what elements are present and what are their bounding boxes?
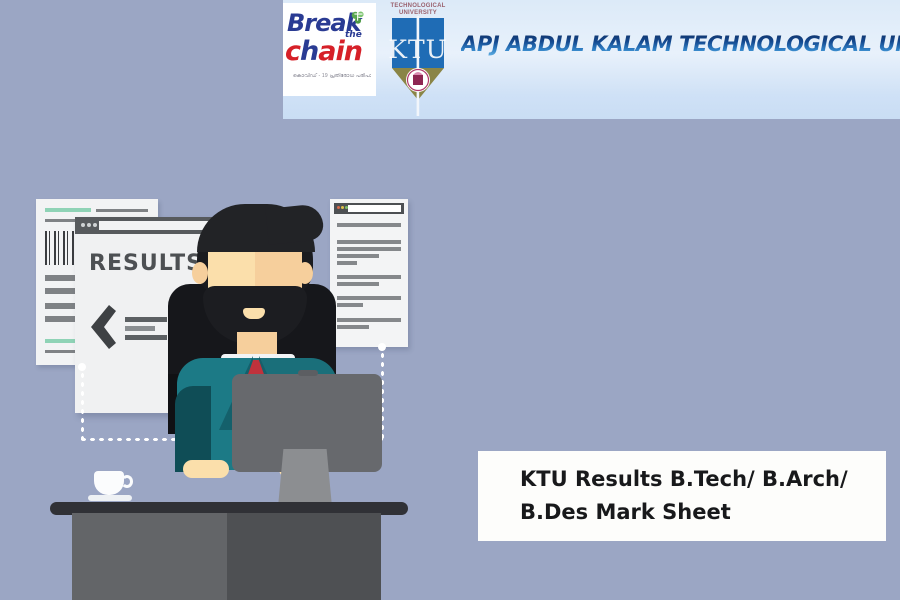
browser-window-document xyxy=(330,199,408,347)
desk-panel-left xyxy=(72,513,227,600)
window-dot-icon xyxy=(87,223,91,227)
doc-text-line xyxy=(337,325,369,329)
university-title: APJ ABDUL KALAM TECHNOLOGICAL UNIVERSITY xyxy=(461,32,900,56)
doc-text-line xyxy=(337,223,401,227)
doc-text-line xyxy=(337,282,379,286)
university-header-banner: Break the chain കൊവിഡ് - 19 പ്രതിരോധ പരി… xyxy=(283,0,900,119)
dotted-guide-cap xyxy=(378,343,386,351)
doc-text-line xyxy=(337,247,401,251)
doc-text-line xyxy=(337,240,401,244)
mouth xyxy=(243,308,265,319)
dotted-guide-vertical xyxy=(80,371,85,439)
cup-handle xyxy=(121,475,133,488)
doc-text-line xyxy=(337,303,363,307)
hand-left xyxy=(183,460,229,478)
ktu-shield-icon: KTU xyxy=(378,0,458,118)
virus-leaf-icon xyxy=(349,9,367,27)
caption-line-2: B.Des Mark Sheet xyxy=(520,500,731,524)
window-dot-icon xyxy=(81,223,85,227)
monitor-notch xyxy=(298,370,318,376)
doc-text-line xyxy=(337,254,379,258)
coffee-cup xyxy=(92,469,132,505)
ear-left xyxy=(192,262,208,284)
btc-chain-h: h xyxy=(300,36,318,67)
btc-chain-c: c xyxy=(285,36,300,67)
caption-text: KTU Results B.Tech/ B.Arch/ B.Des Mark S… xyxy=(478,463,862,529)
hair-sweep xyxy=(265,203,324,245)
window-dot-icon xyxy=(93,223,97,227)
page-canvas: Break the chain കൊവിഡ് - 19 പ്രതിരോധ പരി… xyxy=(0,0,900,600)
desk-panel-right xyxy=(227,513,381,600)
cup-body xyxy=(94,471,124,495)
doc-text-line xyxy=(337,275,401,279)
btc-subtitle: കൊവിഡ് - 19 പ്രതിരോധ പരിപാടി xyxy=(293,73,371,81)
ktu-crest-top-text: APJ ABDUL KALAM TECHNOLOGICAL UNIVERSITY xyxy=(384,0,452,17)
doc-text-line xyxy=(337,318,401,322)
doc-text-line xyxy=(96,209,148,212)
doc-text-line xyxy=(337,261,357,265)
browser-address-bar xyxy=(348,205,401,212)
window-dot-icon xyxy=(341,206,344,209)
btc-chain-text: chain xyxy=(285,36,362,67)
ktu-crest-logo: APJ ABDUL KALAM TECHNOLOGICAL UNIVERSITY… xyxy=(378,0,458,118)
doc-text-line xyxy=(337,296,401,300)
monitor-stand xyxy=(278,449,332,507)
break-the-chain-logo: Break the chain കൊവിഡ് - 19 പ്രതിരോധ പരി… xyxy=(283,3,376,96)
dotted-guide-cap xyxy=(78,363,86,371)
caption-line-1: KTU Results B.Tech/ B.Arch/ xyxy=(520,467,848,491)
btc-chain-ain: ain xyxy=(318,36,362,67)
caption-box: KTU Results B.Tech/ B.Arch/ B.Des Mark S… xyxy=(478,451,886,541)
saucer xyxy=(88,495,132,501)
doc-accent-line xyxy=(45,208,91,212)
